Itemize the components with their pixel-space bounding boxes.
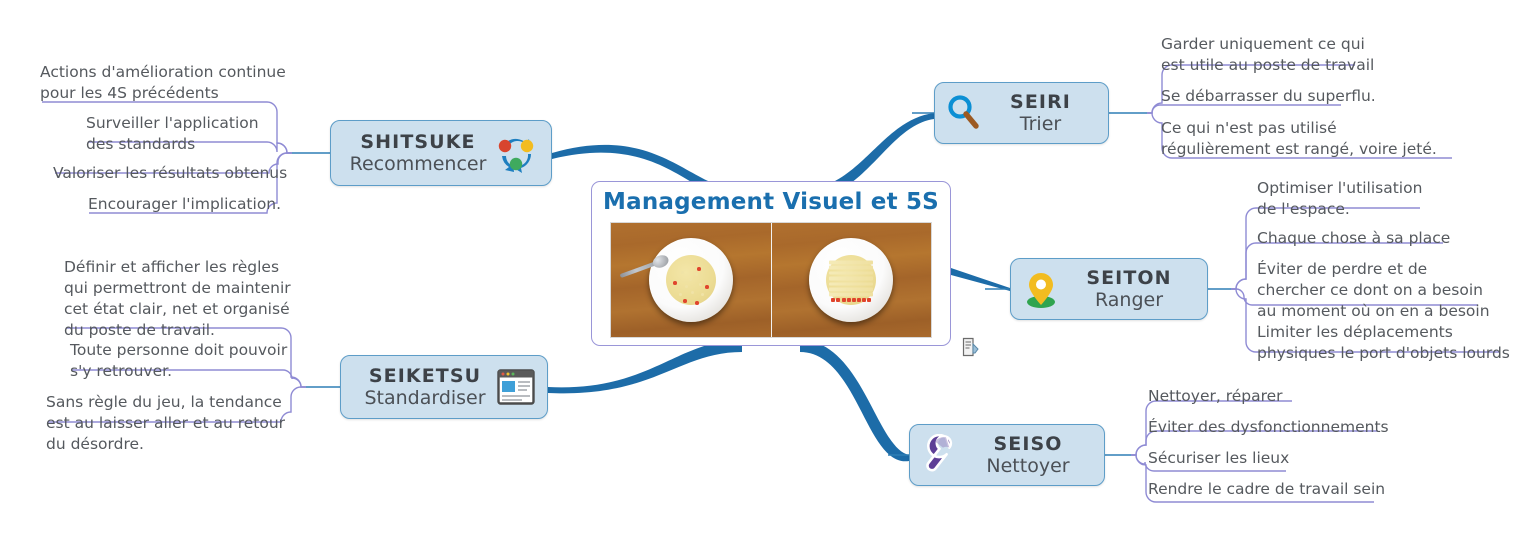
leaf-seiri-2[interactable]: Ce qui n'est pas utilisé régulièrement e…: [1161, 118, 1437, 160]
leaf-seiton-2[interactable]: Éviter de perdre et de chercher ce dont …: [1257, 259, 1490, 322]
center-images: [610, 222, 932, 338]
magnifier-icon: [945, 93, 983, 133]
leaf-seiketsu-2[interactable]: Sans règle du jeu, la tendance est au la…: [46, 392, 285, 455]
leaf-shitsuke-2[interactable]: Valoriser les résultats obtenus: [53, 163, 287, 184]
center-title: Management Visuel et 5S: [603, 188, 939, 216]
branch-title-seiso: SEISO: [993, 433, 1062, 455]
leaf-seiso-3[interactable]: Rendre le cadre de travail sein: [1148, 479, 1385, 500]
image-messy-plate: [611, 223, 771, 337]
branch-labels-seiri: SEIRI Trier: [983, 91, 1098, 136]
branch-labels-shitsuke: SHITSUKE Recommencer: [343, 131, 493, 176]
branch-title-seiketsu: SEIKETSU: [369, 365, 481, 387]
branch-node-seiso[interactable]: SEISO Nettoyer: [909, 424, 1105, 486]
branch-labels-seiketsu: SEIKETSU Standardiser: [353, 365, 497, 410]
leaf-seiso-0[interactable]: Nettoyer, réparer: [1148, 386, 1283, 407]
leaf-seiso-1[interactable]: Éviter des dysfonctionnements: [1148, 417, 1389, 438]
branch-subtitle-seiri: Trier: [1020, 113, 1061, 136]
branch-node-seiketsu[interactable]: SEIKETSU Standardiser: [340, 355, 548, 419]
note-edit-icon[interactable]: [962, 337, 980, 357]
leaf-seiketsu-1[interactable]: Toute personne doit pouvoir s'y retrouve…: [70, 340, 287, 382]
branch-labels-seiso: SEISO Nettoyer: [962, 433, 1094, 478]
wrench-icon: [920, 434, 962, 476]
leaf-seiri-0[interactable]: Garder uniquement ce qui est utile au po…: [1161, 34, 1374, 76]
trunk-seiketsu: [548, 340, 742, 393]
leaf-seiton-3[interactable]: Limiter les déplacements physiques le po…: [1257, 322, 1510, 364]
cycle-icon: [493, 130, 539, 176]
leaf-seiton-0[interactable]: Optimiser l'utilisation de l'espace.: [1257, 178, 1422, 220]
leaf-seiketsu-0[interactable]: Définir et afficher les règles qui perme…: [64, 257, 291, 341]
branch-node-seiton[interactable]: SEITON Ranger: [1010, 258, 1208, 320]
browser-window-icon: [497, 369, 535, 405]
leaf-shitsuke-3[interactable]: Encourager l'implication.: [88, 194, 281, 215]
branch-node-shitsuke[interactable]: SHITSUKE Recommencer: [330, 120, 552, 186]
image-tidy-plate: [771, 223, 932, 337]
center-node[interactable]: Management Visuel et 5S: [591, 181, 951, 346]
branch-labels-seiton: SEITON Ranger: [1061, 267, 1197, 312]
leaf-shitsuke-1[interactable]: Surveiller l'application des standards: [86, 113, 259, 155]
branch-title-seiton: SEITON: [1086, 267, 1171, 289]
branch-subtitle-seiso: Nettoyer: [986, 455, 1069, 478]
mindmap-canvas: Management Visuel et 5S: [0, 0, 1536, 538]
branch-subtitle-shitsuke: Recommencer: [350, 153, 487, 176]
trunk-seiton: [951, 268, 1010, 291]
map-pin-icon: [1021, 268, 1061, 310]
trunk-seiso: [800, 340, 909, 461]
branch-title-shitsuke: SHITSUKE: [360, 131, 475, 153]
leaf-seiso-2[interactable]: Sécuriser les lieux: [1148, 448, 1289, 469]
branch-subtitle-seiton: Ranger: [1095, 289, 1163, 312]
leaf-seiton-1[interactable]: Chaque chose à sa place: [1257, 228, 1450, 249]
leaf-seiri-1[interactable]: Se débarrasser du superflu.: [1161, 86, 1376, 107]
leaf-shitsuke-0[interactable]: Actions d'amélioration continue pour les…: [40, 62, 286, 104]
branch-subtitle-seiketsu: Standardiser: [364, 387, 485, 410]
branch-node-seiri[interactable]: SEIRI Trier: [934, 82, 1109, 144]
branch-title-seiri: SEIRI: [1010, 91, 1071, 113]
